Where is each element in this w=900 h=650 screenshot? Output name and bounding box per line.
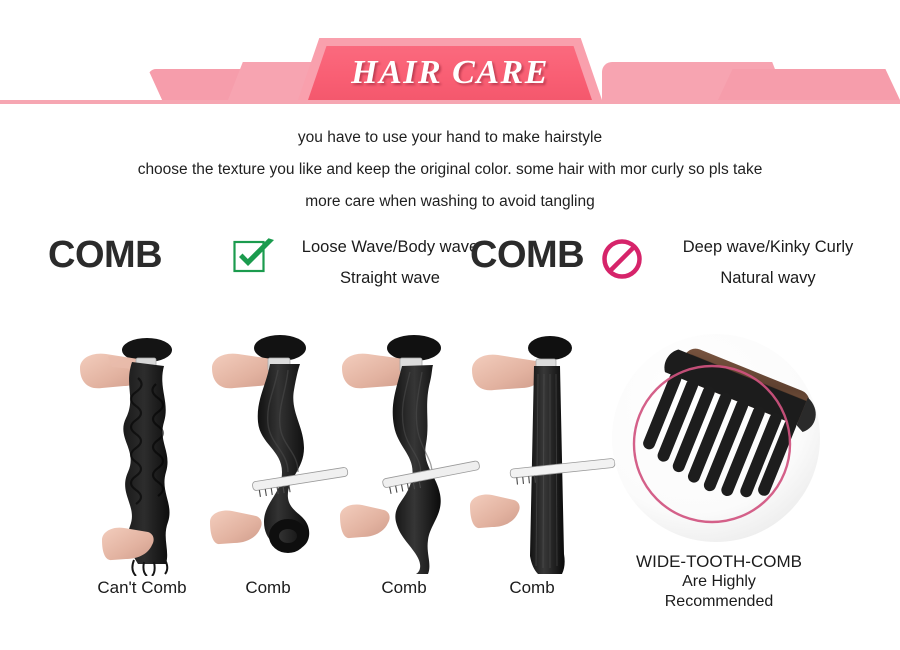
- intro-line-1: you have to use your hand to make hairst…: [0, 122, 900, 154]
- intro-line-2: choose the texture you like and keep the…: [0, 154, 900, 186]
- hair-photo-curly: [72, 326, 222, 576]
- hair-photo-straight: [470, 326, 620, 576]
- legend-forbidden-line-2: Natural wavy: [638, 263, 898, 294]
- page-title: HAIR CARE: [308, 46, 592, 100]
- legend-forbidden-line-1: Deep wave/Kinky Curly: [638, 232, 898, 263]
- prohibition-icon: [601, 238, 643, 280]
- comb-note-line-3: Recommended: [594, 592, 844, 612]
- header-banner: HAIR CARE: [0, 0, 900, 104]
- banner-tab-right-outer: [718, 69, 900, 100]
- legend-forbidden-textures: Deep wave/Kinky Curly Natural wavy: [638, 232, 898, 294]
- legend-forbidden-word: COMB: [470, 234, 584, 277]
- legend-allowed-word: COMB: [48, 234, 162, 277]
- comb-legend-row: COMB Loose Wave/Body wave Straight wave …: [0, 228, 900, 308]
- intro-paragraph: you have to use your hand to make hairst…: [0, 122, 900, 218]
- wide-tooth-comb-icon: [604, 326, 834, 556]
- hair-photo-body-wave: [208, 326, 358, 576]
- comb-note-line-2: Are Highly: [594, 572, 844, 592]
- banner-baseline: [0, 100, 900, 104]
- hair-photo-loose-wave: [340, 326, 490, 576]
- hair-care-infographic: HAIR CARE you have to use your hand to m…: [0, 0, 900, 650]
- wide-tooth-comb-note: WIDE-TOOTH-COMB Are Highly Recommended: [594, 552, 844, 612]
- intro-line-3: more care when washing to avoid tangling: [0, 186, 900, 218]
- photo-caption-3: Comb: [447, 578, 617, 598]
- comb-note-line-1: WIDE-TOOTH-COMB: [594, 552, 844, 572]
